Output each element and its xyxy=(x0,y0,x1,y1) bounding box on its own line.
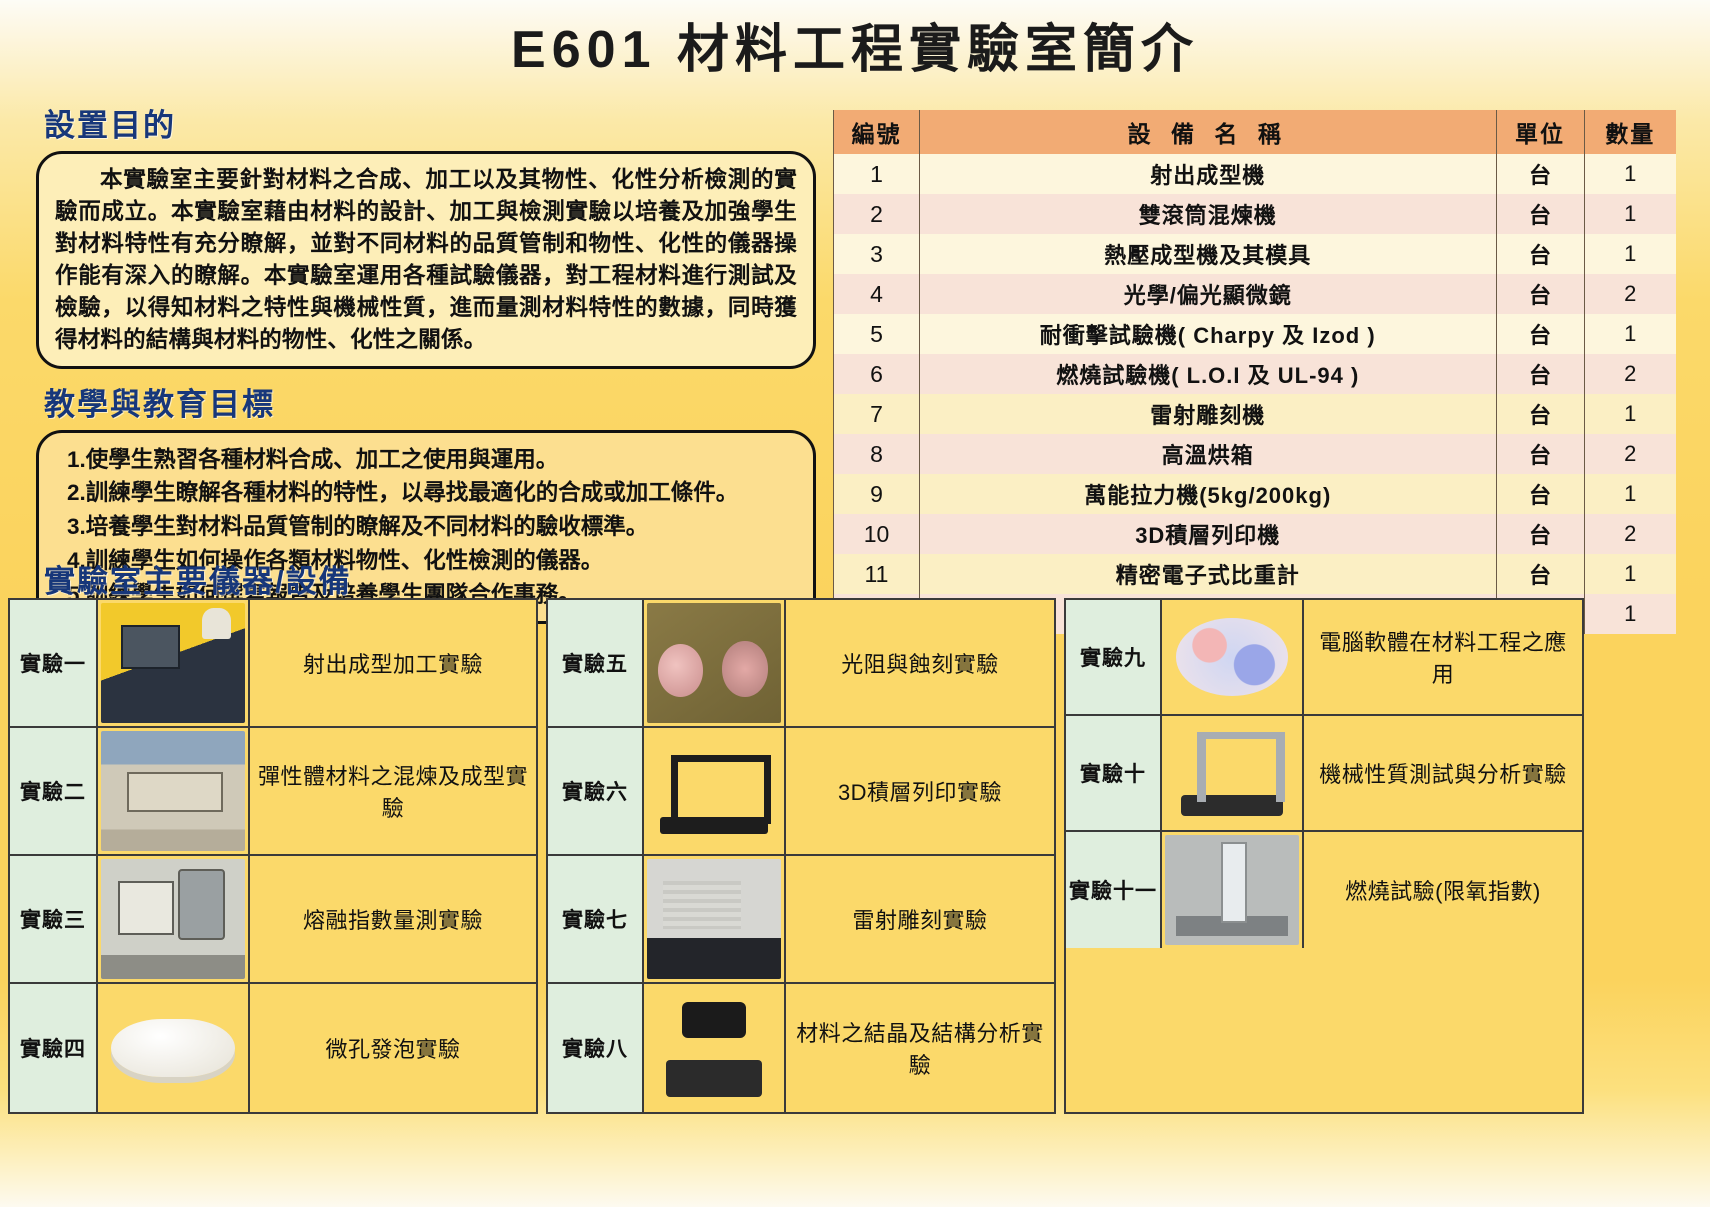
experiment-label: 實驗七 xyxy=(548,856,644,982)
goal-item: 使學生熟習各種材料合成、加工之使用與運用。 xyxy=(67,443,797,477)
experiment-label: 實驗十一 xyxy=(1066,832,1162,948)
equipment-unit-cell: 台 xyxy=(1496,434,1584,474)
equipment-qty-cell: 1 xyxy=(1584,314,1676,354)
experiments-grid: 實驗一射出成型加工實驗實驗二彈性體材料之混煉及成型實驗實驗三熔融指數量測實驗實驗… xyxy=(8,598,1702,1114)
experiment-label: 實驗九 xyxy=(1066,600,1162,714)
equipment-unit-cell: 台 xyxy=(1496,394,1584,434)
equipment-name-cell: 光學/偏光顯微鏡 xyxy=(920,274,1497,314)
equipment-unit-cell: 台 xyxy=(1496,154,1584,194)
equipment-no-cell: 1 xyxy=(834,154,920,194)
equipment-name-cell: 燃燒試驗機( L.O.I 及 UL-94 ) xyxy=(920,354,1497,394)
experiment-row: 實驗七雷射雕刻實驗 xyxy=(548,856,1054,984)
equipment-table-wrapper: 編號 設 備 名 稱 單位 數量 1射出成型機台12雙滾筒混煉機台13熱壓成型機… xyxy=(833,110,1676,634)
experiment-row: 實驗八材料之結晶及結構分析實驗 xyxy=(548,984,1054,1112)
experiment-description: 電腦軟體在材料工程之應用 xyxy=(1304,600,1582,714)
equipment-unit-cell: 台 xyxy=(1496,274,1584,314)
laser-engraver-photo xyxy=(644,856,786,982)
table-row: 4光學/偏光顯微鏡台2 xyxy=(834,274,1677,314)
col-header-qty: 數量 xyxy=(1584,110,1676,154)
purpose-textbox: 本實驗室主要針對材料之合成、加工以及其物性、化性分析檢測的實驗而成立。本實驗室藉… xyxy=(36,151,816,369)
experiment-row: 實驗六3D積層列印實驗 xyxy=(548,728,1054,856)
experiment-column: 實驗一射出成型加工實驗實驗二彈性體材料之混煉及成型實驗實驗三熔融指數量測實驗實驗… xyxy=(8,598,538,1114)
table-row: 3熱壓成型機及其模具台1 xyxy=(834,234,1677,274)
experiments-heading: 實驗室主要儀器/設備 xyxy=(44,556,352,601)
experiment-label: 實驗三 xyxy=(10,856,98,982)
molecular-model-photo xyxy=(1162,600,1304,714)
experiment-label: 實驗八 xyxy=(548,984,644,1112)
experiment-description: 燃燒試驗(限氧指數) xyxy=(1304,832,1582,948)
etched-plaque-photo xyxy=(644,600,786,726)
equipment-name-cell: 萬能拉力機(5kg/200kg) xyxy=(920,474,1497,514)
equipment-qty-cell: 2 xyxy=(1584,434,1676,474)
equipment-unit-cell: 台 xyxy=(1496,194,1584,234)
experiment-row: 實驗十一燃燒試驗(限氧指數) xyxy=(1066,832,1582,948)
equipment-qty-cell: 1 xyxy=(1584,154,1676,194)
table-row: 11精密電子式比重計台1 xyxy=(834,554,1677,594)
equipment-unit-cell: 台 xyxy=(1496,354,1584,394)
equipment-name-cell: 雷射雕刻機 xyxy=(920,394,1497,434)
experiment-description: 材料之結晶及結構分析實驗 xyxy=(786,984,1054,1112)
equipment-no-cell: 2 xyxy=(834,194,920,234)
equipment-qty-cell: 2 xyxy=(1584,514,1676,554)
experiment-row: 實驗二彈性體材料之混煉及成型實驗 xyxy=(10,728,536,856)
equipment-qty-cell: 2 xyxy=(1584,354,1676,394)
goal-item: 訓練學生瞭解各種材料的特性，以尋找最適化的合成或加工條件。 xyxy=(67,476,797,510)
experiment-label: 實驗二 xyxy=(10,728,98,854)
table-row: 6燃燒試驗機( L.O.I 及 UL-94 )台2 xyxy=(834,354,1677,394)
table-row: 2雙滾筒混煉機台1 xyxy=(834,194,1677,234)
equipment-no-cell: 4 xyxy=(834,274,920,314)
table-row: 7雷射雕刻機台1 xyxy=(834,394,1677,434)
injection-molding-machine-photo xyxy=(98,600,250,726)
laser-engraver-photo-image xyxy=(647,859,781,979)
equipment-no-cell: 8 xyxy=(834,434,920,474)
experiment-label: 實驗十 xyxy=(1066,716,1162,830)
injection-molding-machine-photo-image xyxy=(101,603,245,723)
col-header-no: 編號 xyxy=(834,110,920,154)
goals-heading: 教學與教育目標 xyxy=(44,379,816,424)
equipment-table-header-row: 編號 設 備 名 稱 單位 數量 xyxy=(834,110,1677,154)
experiment-description: 機械性質測試與分析實驗 xyxy=(1304,716,1582,830)
equipment-name-cell: 雙滾筒混煉機 xyxy=(920,194,1497,234)
equipment-name-cell: 射出成型機 xyxy=(920,154,1497,194)
equipment-no-cell: 3 xyxy=(834,234,920,274)
experiment-label: 實驗五 xyxy=(548,600,644,726)
polarizing-microscope-photo xyxy=(644,984,786,1112)
equipment-name-cell: 熱壓成型機及其模具 xyxy=(920,234,1497,274)
polarizing-microscope-photo-image xyxy=(647,987,781,1109)
page-title: E601 材料工程實驗室簡介 xyxy=(0,0,1710,79)
melt-flow-indexer-photo xyxy=(98,856,250,982)
equipment-name-cell: 耐衝擊試驗機( Charpy 及 Izod ) xyxy=(920,314,1497,354)
equipment-unit-cell: 台 xyxy=(1496,514,1584,554)
equipment-unit-cell: 台 xyxy=(1496,474,1584,514)
left-column: 設置目的 本實驗室主要針對材料之合成、加工以及其物性、化性分析檢測的實驗而成立。… xyxy=(36,100,816,624)
experiment-label: 實驗一 xyxy=(10,600,98,726)
experiment-description: 射出成型加工實驗 xyxy=(250,600,536,726)
experiment-description: 光阻與蝕刻實驗 xyxy=(786,600,1054,726)
table-row: 9萬能拉力機(5kg/200kg)台1 xyxy=(834,474,1677,514)
3d-printer-photo xyxy=(644,728,786,854)
loi-burning-tester-photo-image xyxy=(1165,835,1299,945)
microcellular-foam-sample-photo-image xyxy=(101,987,245,1109)
experiment-row: 實驗九電腦軟體在材料工程之應用 xyxy=(1066,600,1582,716)
equipment-qty-cell: 1 xyxy=(1584,474,1676,514)
experiment-column: 實驗五光阻與蝕刻實驗實驗六3D積層列印實驗實驗七雷射雕刻實驗實驗八材料之結晶及結… xyxy=(546,598,1056,1114)
molecular-model-photo-image xyxy=(1165,603,1299,711)
equipment-no-cell: 7 xyxy=(834,394,920,434)
experiment-row: 實驗四微孔發泡實驗 xyxy=(10,984,536,1112)
loi-burning-tester-photo xyxy=(1162,832,1304,948)
equipment-no-cell: 5 xyxy=(834,314,920,354)
table-row: 8高溫烘箱台2 xyxy=(834,434,1677,474)
experiment-row: 實驗三熔融指數量測實驗 xyxy=(10,856,536,984)
table-row: 5耐衝擊試驗機( Charpy 及 Izod )台1 xyxy=(834,314,1677,354)
experiment-column: 實驗九電腦軟體在材料工程之應用實驗十機械性質測試與分析實驗實驗十一燃燒試驗(限氧… xyxy=(1064,598,1584,1114)
equipment-unit-cell: 台 xyxy=(1496,314,1584,354)
equipment-unit-cell: 台 xyxy=(1496,554,1584,594)
experiment-description: 微孔發泡實驗 xyxy=(250,984,536,1112)
universal-testing-machine-photo xyxy=(1162,716,1304,830)
experiment-description: 彈性體材料之混煉及成型實驗 xyxy=(250,728,536,854)
equipment-qty-cell: 1 xyxy=(1584,194,1676,234)
experiment-description: 雷射雕刻實驗 xyxy=(786,856,1054,982)
experiment-label: 實驗四 xyxy=(10,984,98,1112)
universal-testing-machine-photo-image xyxy=(1165,719,1299,827)
goal-item: 培養學生對材料品質管制的瞭解及不同材料的驗收標準。 xyxy=(67,510,797,544)
purpose-heading: 設置目的 xyxy=(44,100,816,145)
equipment-no-cell: 11 xyxy=(834,554,920,594)
equipment-table: 編號 設 備 名 稱 單位 數量 1射出成型機台12雙滾筒混煉機台13熱壓成型機… xyxy=(833,110,1676,634)
equipment-qty-cell: 2 xyxy=(1584,274,1676,314)
equipment-unit-cell: 台 xyxy=(1496,234,1584,274)
equipment-name-cell: 高溫烘箱 xyxy=(920,434,1497,474)
experiment-label: 實驗六 xyxy=(548,728,644,854)
col-header-name: 設 備 名 稱 xyxy=(920,110,1497,154)
col-header-unit: 單位 xyxy=(1496,110,1584,154)
two-roll-mill-photo xyxy=(98,728,250,854)
melt-flow-indexer-photo-image xyxy=(101,859,245,979)
equipment-qty-cell: 1 xyxy=(1584,394,1676,434)
table-row: 103D積層列印機台2 xyxy=(834,514,1677,554)
equipment-no-cell: 6 xyxy=(834,354,920,394)
experiment-description: 3D積層列印實驗 xyxy=(786,728,1054,854)
equipment-no-cell: 9 xyxy=(834,474,920,514)
experiment-description: 熔融指數量測實驗 xyxy=(250,856,536,982)
3d-printer-photo-image xyxy=(647,731,781,851)
equipment-name-cell: 精密電子式比重計 xyxy=(920,554,1497,594)
equipment-name-cell: 3D積層列印機 xyxy=(920,514,1497,554)
etched-plaque-photo-image xyxy=(647,603,781,723)
microcellular-foam-sample-photo xyxy=(98,984,250,1112)
purpose-text: 本實驗室主要針對材料之合成、加工以及其物性、化性分析檢測的實驗而成立。本實驗室藉… xyxy=(55,164,797,356)
experiment-row: 實驗五光阻與蝕刻實驗 xyxy=(548,600,1054,728)
experiment-row: 實驗十機械性質測試與分析實驗 xyxy=(1066,716,1582,832)
experiment-row: 實驗一射出成型加工實驗 xyxy=(10,600,536,728)
equipment-no-cell: 10 xyxy=(834,514,920,554)
equipment-qty-cell: 1 xyxy=(1584,554,1676,594)
equipment-qty-cell: 1 xyxy=(1584,234,1676,274)
table-row: 1射出成型機台1 xyxy=(834,154,1677,194)
two-roll-mill-photo-image xyxy=(101,731,245,851)
equipment-table-body: 1射出成型機台12雙滾筒混煉機台13熱壓成型機及其模具台14光學/偏光顯微鏡台2… xyxy=(834,154,1677,634)
